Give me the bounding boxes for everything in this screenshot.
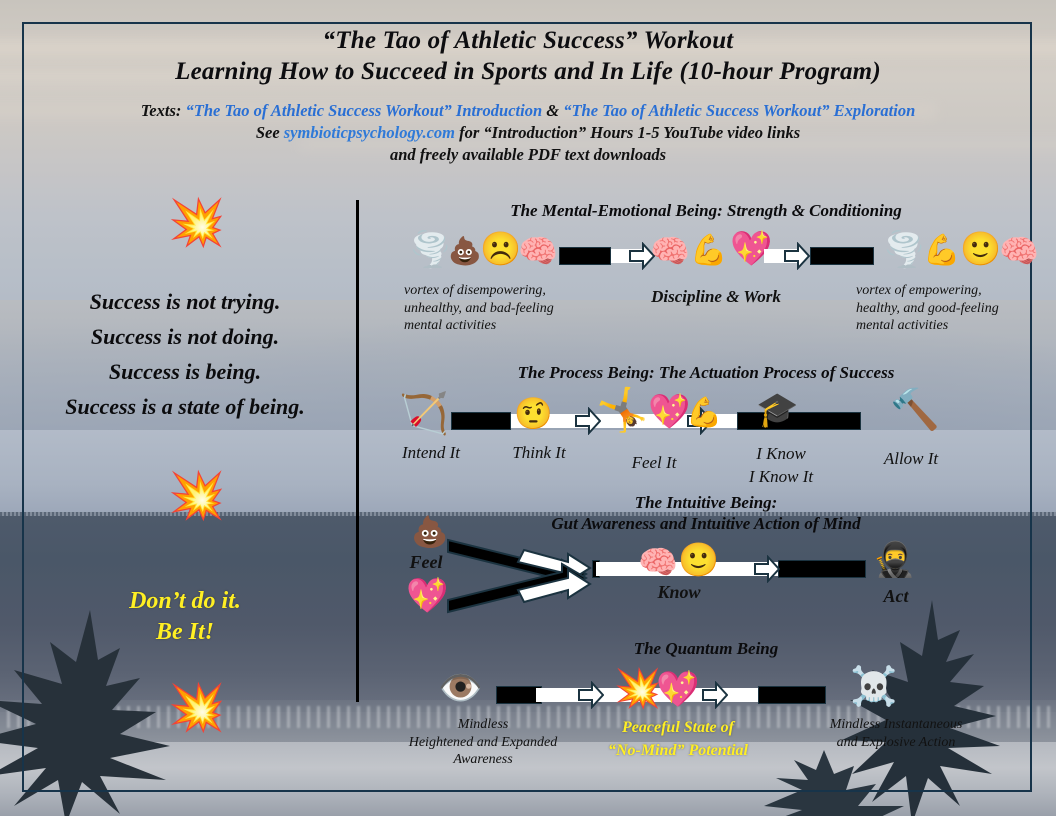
arrow-head-icon xyxy=(702,681,728,709)
collision-icon: 💥 xyxy=(157,200,237,246)
person-cartwheeling-icon: 🤸 xyxy=(596,390,648,432)
poop-icon: 💩 xyxy=(411,518,448,548)
brain-icon: 🧠 xyxy=(638,546,678,578)
arrow-head-icon xyxy=(578,681,604,709)
text-link-introduction[interactable]: “The Tao of Athletic Success Workout” In… xyxy=(185,101,542,120)
caption-right: Mindless Instantaneous and Explosive Act… xyxy=(786,716,1006,751)
section-quantum-being: The Quantum Being 👁️ 💥 💖 xyxy=(356,638,1056,768)
smiling-face-icon: 🙂 xyxy=(960,234,1001,267)
collision-icon: 💥 xyxy=(614,670,661,708)
flexed-biceps-icon: 💪 xyxy=(690,236,727,266)
arrow-band-left xyxy=(559,247,647,265)
see-line-rest: for “Introduction” Hours 1-5 YouTube vid… xyxy=(459,123,800,142)
poop-icon: 💩 xyxy=(448,238,482,265)
sparkling-heart-icon: 💖 xyxy=(648,396,690,430)
cta-line-1: Don’t do it. xyxy=(20,586,350,617)
eye-icon: 👁️ xyxy=(438,670,483,706)
header-block: “The Tao of Athletic Success” Workout Le… xyxy=(0,26,1056,166)
caption-left: vortex of disempowering, unhealthy, and … xyxy=(404,282,624,335)
skull-and-crossbones-icon: ☠️ xyxy=(850,668,897,706)
arrow-band-right xyxy=(764,247,874,265)
hammer-icon: 🔨 xyxy=(890,390,940,430)
ninja-icon: 🥷 xyxy=(873,544,915,578)
caption-center-line1: Peaceful State of xyxy=(578,716,778,739)
page-title-line2: Learning How to Succeed in Sports and In… xyxy=(0,56,1056,88)
step-label-i-know-i-know-it: I Know I Know It xyxy=(716,442,846,488)
texts-label: Texts: xyxy=(141,101,182,120)
brain-icon: 🧠 xyxy=(999,235,1039,267)
step-label-feel-it: Feel It xyxy=(604,454,704,472)
step-label-intend-it: Intend It xyxy=(376,444,486,462)
texts-ampersand: & xyxy=(546,101,559,120)
frowning-face-icon: ☹️ xyxy=(480,234,521,267)
graduation-cap-icon: 🎓 xyxy=(756,394,798,428)
step-label-think-it: Think It xyxy=(484,444,594,462)
section-mental-emotional-being: The Mental-Emotional Being: Strength & C… xyxy=(356,200,1056,345)
flexed-biceps-icon: 💪 xyxy=(686,399,722,428)
caption-right: vortex of empowering, healthy, and good-… xyxy=(856,282,1056,335)
collision-icon: 💥 xyxy=(157,473,237,519)
tornado-icon: 🌪️ xyxy=(883,234,925,268)
page-title-line1: “The Tao of Athletic Success” Workout xyxy=(0,26,1056,56)
converging-arrows-icon xyxy=(446,538,616,614)
tornado-icon: 🌪️ xyxy=(409,234,451,268)
step-label-allow-it: Allow It xyxy=(856,450,966,468)
arrow-band-intuitive xyxy=(592,560,866,578)
cta-line-2: Be It! xyxy=(20,617,350,648)
bow-and-arrow-icon: 🏹 xyxy=(399,394,449,434)
text-link-exploration[interactable]: “The Tao of Athletic Success Workout” Ex… xyxy=(563,101,915,120)
quote-line-1: Success is not trying. xyxy=(20,285,350,319)
sparkling-heart-icon: 💖 xyxy=(406,580,448,614)
arrow-head-icon xyxy=(754,555,780,583)
collision-icon: 💥 xyxy=(157,685,237,731)
quote-line-3: Success is being. xyxy=(20,355,350,389)
see-line: See symbioticpsychology.com for “Introdu… xyxy=(0,122,1056,144)
section-intuitive-being: The Intuitive Being: Gut Awareness and I… xyxy=(356,492,1056,622)
brain-lightning-icon: 🧠 xyxy=(518,235,558,267)
caption-left: Mindless Heightened and Expanded Awarene… xyxy=(388,716,578,769)
sparkling-heart-icon: 💖 xyxy=(656,672,700,707)
label-act: Act xyxy=(846,588,946,606)
texts-line: Texts: “The Tao of Athletic Success Work… xyxy=(0,100,1056,122)
see-line3: and freely available PDF text downloads xyxy=(0,144,1056,166)
website-link[interactable]: symbioticpsychology.com xyxy=(284,123,455,142)
caption-center: Discipline & Work xyxy=(616,288,816,306)
flexed-biceps-icon: 💪 xyxy=(923,236,960,266)
section-process-being: The Process Being: The Actuation Process… xyxy=(356,362,1056,487)
label-know: Know xyxy=(614,584,744,602)
quote-line-4: Success is a state of being. xyxy=(20,390,350,424)
caption-center-line2: “No-Mind” Potential xyxy=(578,739,778,762)
brain-icon: 🧠 xyxy=(650,235,690,267)
quote-line-2: Success is not doing. xyxy=(20,320,350,354)
arrow-head-icon xyxy=(784,242,810,270)
see-label: See xyxy=(256,123,280,142)
winking-thinking-face-icon: 🤨 xyxy=(514,398,553,429)
smiling-face-icon: 🙂 xyxy=(678,545,719,578)
